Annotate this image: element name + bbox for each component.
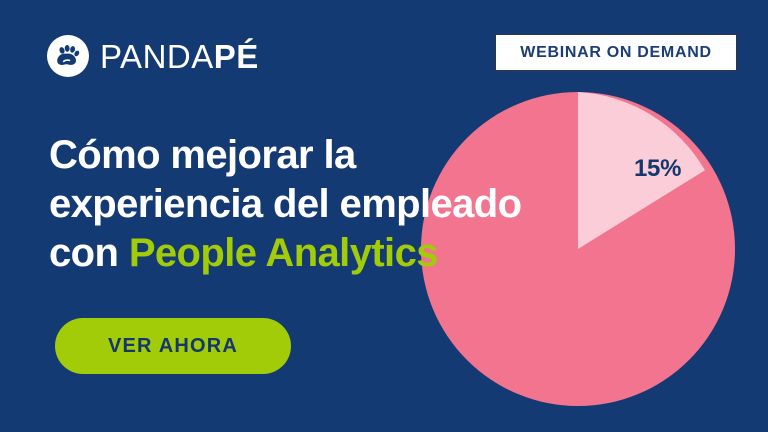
pie-slice-value-label: 15% bbox=[634, 155, 681, 183]
page-title: Cómo mejorar la experiencia del empleado… bbox=[49, 131, 521, 278]
brand-wordmark: PANDAPÉ bbox=[100, 40, 259, 73]
headline-line-3: con People Analytics bbox=[49, 229, 521, 278]
paw-print-icon bbox=[47, 35, 89, 77]
brand-name-light: PANDA bbox=[100, 38, 214, 75]
headline-line-3-plain: con bbox=[49, 231, 129, 275]
webinar-badge-label: WEBINAR ON DEMAND bbox=[520, 44, 711, 62]
headline-line-2: experiencia del empleado bbox=[49, 180, 521, 229]
brand-logo[interactable]: PANDAPÉ bbox=[47, 32, 259, 80]
brand-name-bold: PÉ bbox=[214, 38, 259, 75]
webinar-on-demand-badge: WEBINAR ON DEMAND bbox=[495, 34, 737, 71]
ver-ahora-button[interactable]: VER AHORA bbox=[55, 318, 291, 374]
headline-accent-people-analytics: People Analytics bbox=[129, 231, 438, 275]
webinar-promo-banner: 15% PANDAPÉ WEBINAR ON DEMAND Cómo mejor… bbox=[0, 0, 768, 432]
headline-line-1: Cómo mejorar la bbox=[49, 131, 521, 180]
